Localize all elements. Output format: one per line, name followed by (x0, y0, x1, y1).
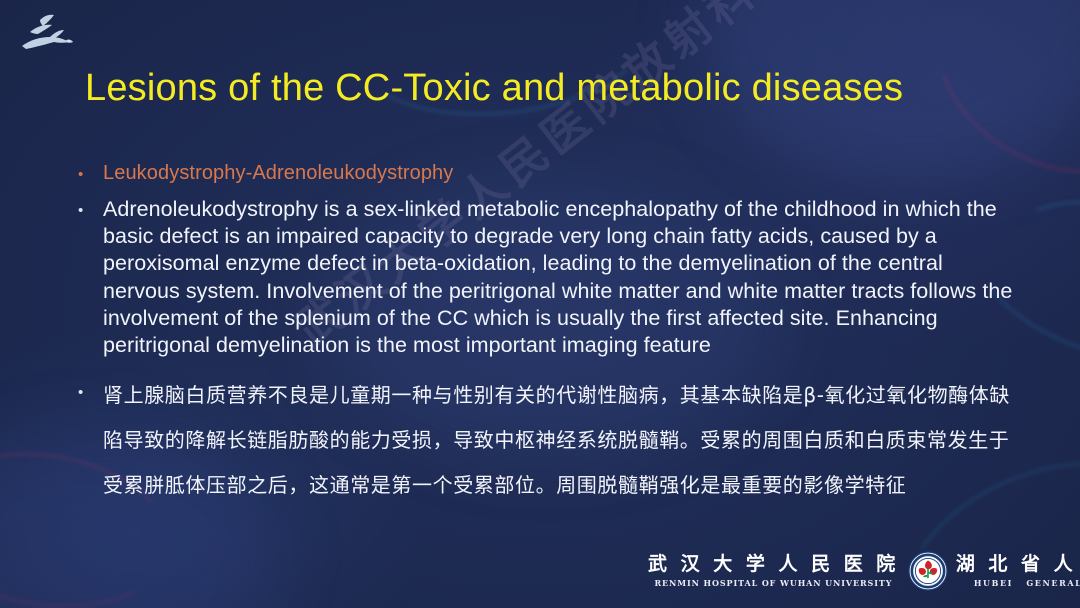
swoosh-cyan-top2 (343, 0, 661, 129)
bullet-icon: • (72, 196, 103, 218)
footer-logos: 武 汉 大 学 人 民 医 院 RENMIN HOSPITAL OF WUHAN… (648, 546, 1072, 596)
logo-hubei-name-en: HUBEI GENERAL HOSPITAL (974, 578, 1080, 588)
bullet-icon: • (72, 163, 103, 182)
logo-hubei-hospital: 湖 北 省 人 民 醫 院 HUBEI GENERAL HOSPITAL (956, 554, 1080, 588)
page-title: Lesions of the CC-Toxic and metabolic di… (85, 67, 903, 110)
slide-body: • Leukodystrophy-Adrenoleukodystrophy • … (72, 163, 1020, 508)
subheading: Leukodystrophy-Adrenoleukodystrophy (103, 163, 453, 184)
subheading-row: • Leukodystrophy-Adrenoleukodystrophy (72, 163, 1020, 184)
hospital-emblem-icon (908, 551, 948, 591)
crane-logo-icon (14, 10, 76, 60)
logo-renmin-name-en: RENMIN HOSPITAL OF WUHAN UNIVERSITY (654, 578, 892, 588)
paragraph-en-row: • Adrenoleukodystrophy is a sex-linked m… (72, 196, 1020, 359)
logo-hubei-name-cn: 湖 北 省 人 民 醫 院 (956, 554, 1080, 575)
swoosh-cyan-bottom (235, 507, 600, 608)
paragraph-chinese: 肾上腺脑白质营养不良是儿童期一种与性别有关的代谢性脑病，其基本缺陷是β-氧化过氧… (103, 373, 1020, 508)
paragraph-english: Adrenoleukodystrophy is a sex-linked met… (103, 196, 1019, 359)
logo-renmin-hospital: 武 汉 大 学 人 民 医 院 RENMIN HOSPITAL OF WUHAN… (648, 554, 899, 588)
paragraph-cn-row: • 肾上腺脑白质营养不良是儿童期一种与性别有关的代谢性脑病，其基本缺陷是β-氧化… (72, 373, 1020, 508)
logo-renmin-name-cn: 武 汉 大 学 人 民 医 院 (648, 554, 899, 575)
bullet-icon: • (72, 373, 103, 400)
presentation-slide: 武汉大学人民医院放射科 Lesions of the CC-Toxic and … (0, 0, 1080, 608)
